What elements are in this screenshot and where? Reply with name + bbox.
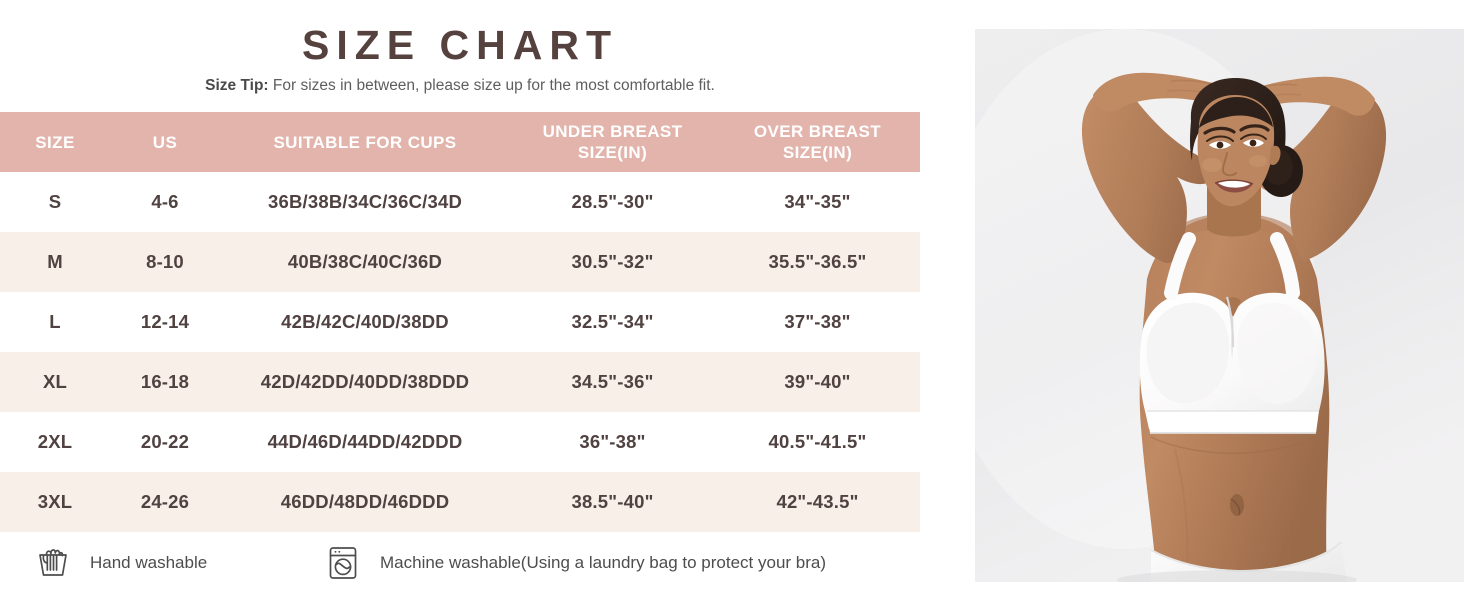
cell-over: 34"-35" — [715, 172, 920, 232]
cell-us: 8-10 — [110, 232, 220, 292]
column-header-cups: SUITABLE FOR CUPS — [220, 112, 510, 172]
cell-under: 38.5"-40" — [510, 472, 715, 532]
column-header-over-breast-line1: OVER BREAST — [754, 122, 881, 141]
cell-us: 16-18 — [110, 352, 220, 412]
cell-under: 28.5"-30" — [510, 172, 715, 232]
column-header-under-breast-line2: SIZE(IN) — [578, 143, 647, 162]
model-illustration — [975, 29, 1464, 582]
size-tip-label: Size Tip: — [205, 77, 268, 94]
size-tip: Size Tip: For sizes in between, please s… — [0, 74, 920, 98]
cell-us: 4-6 — [110, 172, 220, 232]
hand-wash-icon — [30, 540, 76, 586]
cell-us: 20-22 — [110, 412, 220, 472]
cell-under: 36"-38" — [510, 412, 715, 472]
page-title: SIZE CHART — [0, 20, 920, 70]
cell-size: 2XL — [0, 412, 110, 472]
table-row: S 4-6 36B/38B/34C/36C/34D 28.5"-30" 34"-… — [0, 172, 920, 232]
size-chart-table: SIZE US SUITABLE FOR CUPS UNDER BREAST S… — [0, 112, 920, 532]
column-header-over-breast-line2: SIZE(IN) — [783, 143, 852, 162]
table-row: L 12-14 42B/42C/40D/38DD 32.5"-34" 37"-3… — [0, 292, 920, 352]
column-header-over-breast: OVER BREAST SIZE(IN) — [715, 112, 920, 172]
cell-over: 37"-38" — [715, 292, 920, 352]
cell-size: 3XL — [0, 472, 110, 532]
cell-size: M — [0, 232, 110, 292]
cell-cups: 44D/46D/44DD/42DDD — [220, 412, 510, 472]
care-label-machine-wash: Machine washable(Using a laundry bag to … — [380, 540, 826, 586]
cell-under: 30.5"-32" — [510, 232, 715, 292]
column-header-us: US — [110, 112, 220, 172]
column-header-size: SIZE — [0, 112, 110, 172]
size-chart-panel: SIZE CHART Size Tip: For sizes in betwee… — [0, 0, 960, 600]
table-row: XL 16-18 42D/42DD/40DD/38DDD 34.5"-36" 3… — [0, 352, 920, 412]
table-row: 2XL 20-22 44D/46D/44DD/42DDD 36"-38" 40.… — [0, 412, 920, 472]
care-label-hand-wash: Hand washable — [90, 540, 207, 586]
table-header-row: SIZE US SUITABLE FOR CUPS UNDER BREAST S… — [0, 112, 920, 172]
table-body: S 4-6 36B/38B/34C/36C/34D 28.5"-30" 34"-… — [0, 172, 920, 532]
product-photo — [975, 29, 1464, 582]
cell-size: S — [0, 172, 110, 232]
care-item-machine-wash: Machine washable(Using a laundry bag to … — [320, 540, 826, 586]
size-chart-page: SIZE CHART Size Tip: For sizes in betwee… — [0, 0, 1464, 600]
cell-cups: 36B/38B/34C/36C/34D — [220, 172, 510, 232]
cell-us: 12-14 — [110, 292, 220, 352]
size-tip-text: For sizes in between, please size up for… — [269, 77, 715, 94]
cell-over: 42"-43.5" — [715, 472, 920, 532]
cell-over: 40.5"-41.5" — [715, 412, 920, 472]
cell-cups: 40B/38C/40C/36D — [220, 232, 510, 292]
table-row: 3XL 24-26 46DD/48DD/46DDD 38.5"-40" 42"-… — [0, 472, 920, 532]
cell-under: 32.5"-34" — [510, 292, 715, 352]
washing-machine-icon — [320, 540, 366, 586]
cell-us: 24-26 — [110, 472, 220, 532]
cell-size: L — [0, 292, 110, 352]
cell-cups: 42D/42DD/40DD/38DDD — [220, 352, 510, 412]
column-header-under-breast-line1: UNDER BREAST — [543, 122, 683, 141]
column-header-under-breast: UNDER BREAST SIZE(IN) — [510, 112, 715, 172]
care-item-hand-wash: Hand washable — [30, 540, 207, 586]
table-row: M 8-10 40B/38C/40C/36D 30.5"-32" 35.5"-3… — [0, 232, 920, 292]
cell-size: XL — [0, 352, 110, 412]
table-header: SIZE US SUITABLE FOR CUPS UNDER BREAST S… — [0, 112, 920, 172]
cell-cups: 46DD/48DD/46DDD — [220, 472, 510, 532]
cell-under: 34.5"-36" — [510, 352, 715, 412]
care-instructions: Hand washable Machine washable(Using a l… — [0, 540, 920, 590]
cell-over: 39"-40" — [715, 352, 920, 412]
cell-over: 35.5"-36.5" — [715, 232, 920, 292]
cell-cups: 42B/42C/40D/38DD — [220, 292, 510, 352]
